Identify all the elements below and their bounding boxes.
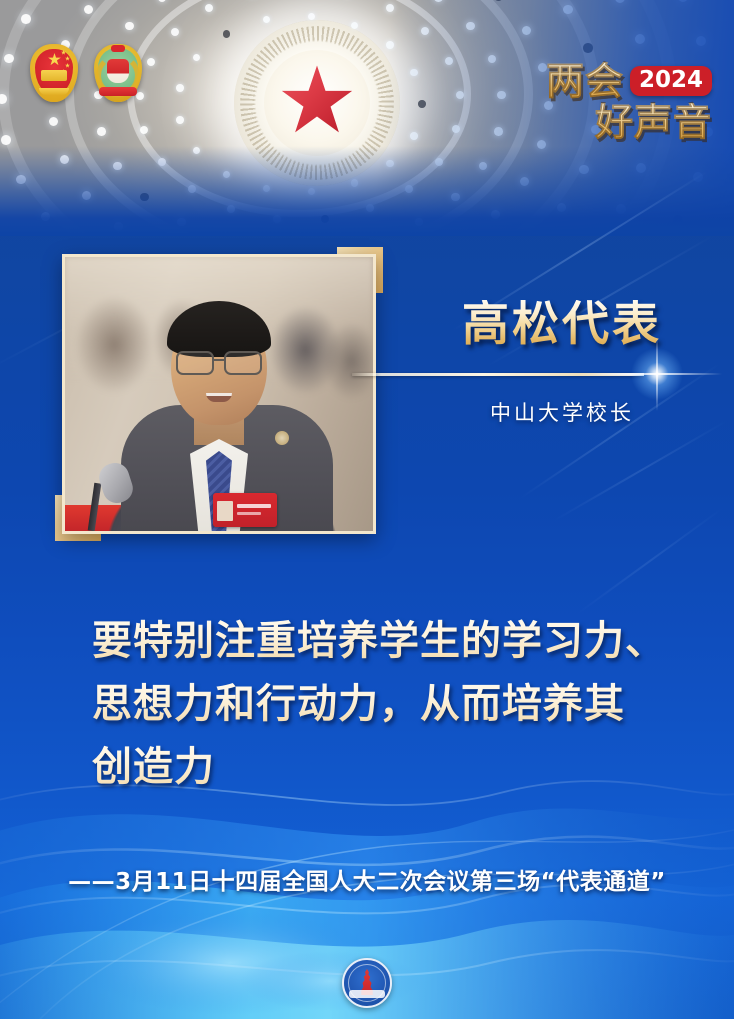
delegate-badge (213, 493, 277, 527)
photo-image (65, 257, 373, 531)
emblem-group (30, 44, 142, 102)
quote-line: 要特别注重培养学生的学习力、 (92, 610, 692, 673)
cppcc-emblem-icon (94, 44, 142, 102)
speaker-role: 中山大学校长 (400, 397, 720, 427)
program-logo-line1: 两会 (546, 62, 624, 100)
photo-frame (62, 254, 376, 534)
divider (400, 365, 720, 383)
ceiling-bottom-fade (0, 146, 734, 236)
speaker-name: 高松代表 (400, 300, 720, 351)
program-logo: 两会 2024 好声音 (546, 62, 712, 141)
quote-line: 思想力和行动力，从而培养其 (92, 673, 692, 736)
glasses-icon (174, 351, 264, 371)
speaker-portrait (62, 254, 376, 534)
quote-block: 要特别注重培养学生的学习力、 思想力和行动力，从而培养其 创造力 (92, 610, 692, 800)
program-logo-year-badge: 2024 (630, 66, 712, 96)
lapel-pin-icon (275, 431, 289, 445)
caption-text: ——3月11日十四届全国人大二次会议第三场“代表通道” (0, 862, 734, 896)
program-logo-row-1: 两会 2024 (546, 62, 712, 100)
poster-root: 两会 2024 好声音 (0, 0, 734, 1019)
lens-flare-icon (630, 347, 684, 401)
news-outlet-tower-logo-icon (342, 958, 392, 1008)
quote-line: 创造力 (92, 736, 692, 799)
speaker-info: 高松代表 中山大学校长 (400, 300, 720, 427)
program-logo-line2: 好声音 (546, 103, 712, 141)
national-emblem-of-china-icon (30, 44, 78, 102)
